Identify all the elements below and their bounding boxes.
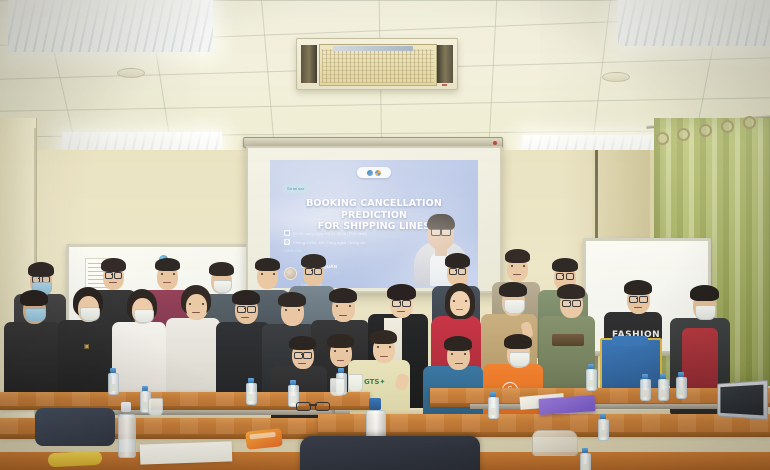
water-bottle[interactable] [676,372,685,399]
water-bottle[interactable] [246,378,255,405]
water-bottle[interactable] [598,414,607,441]
ac-vent-right [437,45,453,83]
plastic-cup[interactable] [148,398,163,416]
ac-led-icon [442,84,447,86]
water-bottle[interactable] [108,368,117,395]
papers[interactable] [140,441,233,464]
curtain-ring-icon [677,128,690,141]
curtain-ring-icon [743,116,756,129]
ceiling-ac-unit [296,38,458,90]
eyeglasses[interactable] [296,402,330,409]
water-bottle[interactable] [586,364,595,391]
blue-notice-board [600,338,662,394]
backpack[interactable] [35,408,115,446]
water-bottle[interactable] [658,374,667,401]
blue-chair[interactable] [612,336,648,346]
water-bottle[interactable] [488,392,497,419]
roller-end-cap-icon [493,141,497,145]
water-bottle[interactable] [580,448,589,470]
water-bottle[interactable] [640,374,649,401]
ac-vent-left [301,45,317,83]
curtain-ring-icon [656,132,669,145]
plastic-cup[interactable] [348,374,363,392]
laptop[interactable] [708,382,764,422]
purple-folder[interactable] [539,395,596,415]
bananas[interactable] [48,451,103,468]
classroom-group-photo: × Seminar BOOKING CANCELLATION PREDICTIO… [0,0,770,470]
snack-packet[interactable] [245,428,283,450]
curtain-ring-icon [721,120,734,133]
plastic-bag[interactable] [532,430,578,456]
curtain-ring-icon [699,124,712,137]
ac-display-strip [333,46,413,51]
water-bottle[interactable] [118,402,134,458]
plastic-cup[interactable] [330,378,345,396]
backpack[interactable] [300,436,480,470]
